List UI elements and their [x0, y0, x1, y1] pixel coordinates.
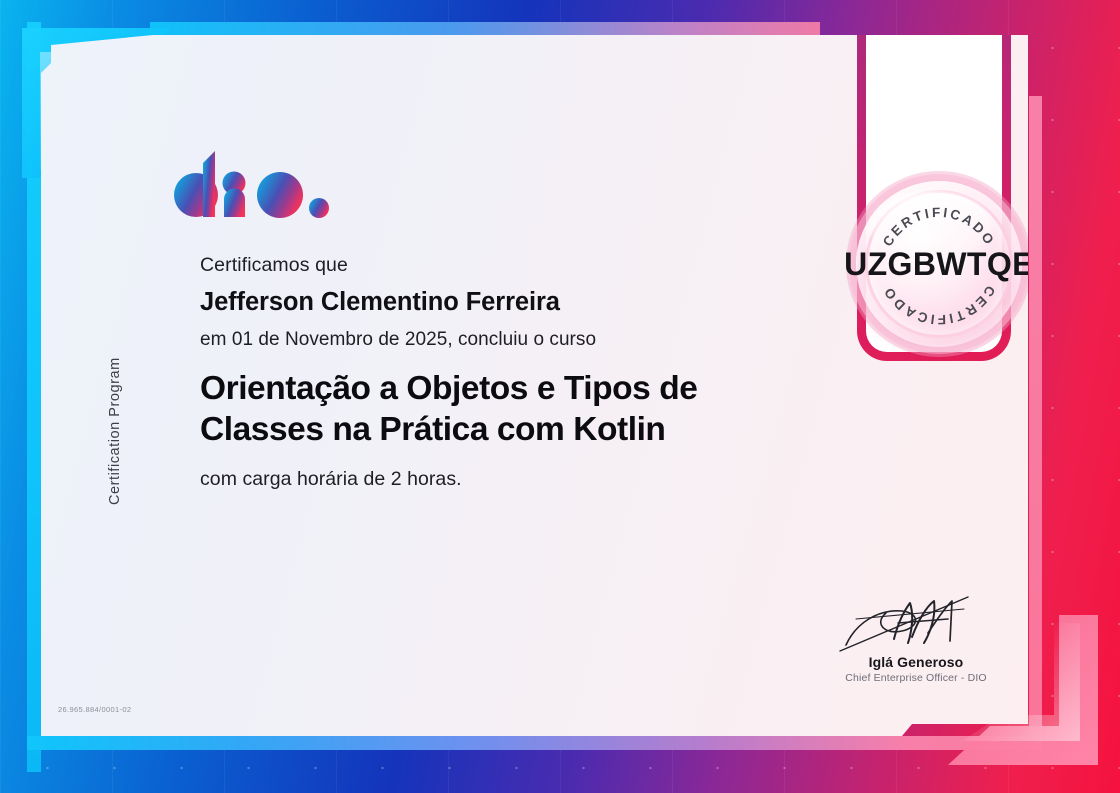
inner-border-top	[150, 22, 820, 35]
signature-block: Iglá Generoso Chief Enterprise Officer -…	[801, 593, 1031, 684]
certificate-canvas: Certification Program Certificamos que J…	[0, 0, 1120, 793]
workload-line: com carga horária de 2 horas.	[200, 468, 820, 491]
completion-date-line: em 01 de Novembro de 2025, concluiu o cu…	[200, 329, 820, 351]
inner-border-bottom	[27, 736, 1028, 750]
dio-logo	[158, 143, 333, 218]
signatory-role: Chief Enterprise Officer - DIO	[801, 672, 1031, 684]
certificate-seal: CERTIFICADO CERTIFICADO UZGBWTQE	[856, 181, 1022, 347]
signature-scribble-icon	[816, 593, 1016, 653]
course-title: Orientação a Objetos e Tipos de Classes …	[200, 369, 800, 451]
recipient-name: Jefferson Clementino Ferreira	[200, 288, 820, 317]
seal-verification-code: UZGBWTQE	[850, 181, 1028, 347]
cnpj-number: 26.965.884/0001-02	[58, 705, 131, 714]
inner-border-right	[1029, 96, 1042, 750]
certificate-body: Certificamos que Jefferson Clementino Fe…	[200, 254, 820, 491]
certification-program-label: Certification Program	[107, 275, 129, 505]
intro-line: Certificamos que	[200, 254, 820, 277]
signatory-name: Iglá Generoso	[801, 654, 1031, 670]
certificate-card: Certification Program Certificamos que J…	[41, 35, 1028, 736]
certificate-card-surface: Certification Program Certificamos que J…	[41, 35, 1028, 736]
